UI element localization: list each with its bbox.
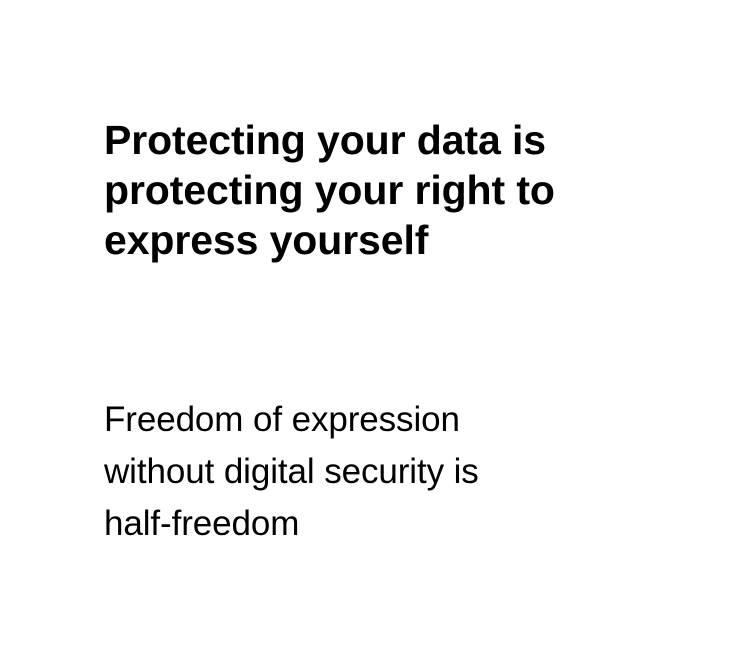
slide-headline: Protecting your data is protecting your … (104, 115, 664, 265)
headline-block: Protecting your data is protecting your … (104, 115, 664, 265)
slide-subheadline: Freedom of expression without digital se… (104, 394, 664, 550)
slide-canvas: Protecting your data is protecting your … (0, 0, 750, 650)
subheadline-block: Freedom of expression without digital se… (104, 394, 664, 550)
